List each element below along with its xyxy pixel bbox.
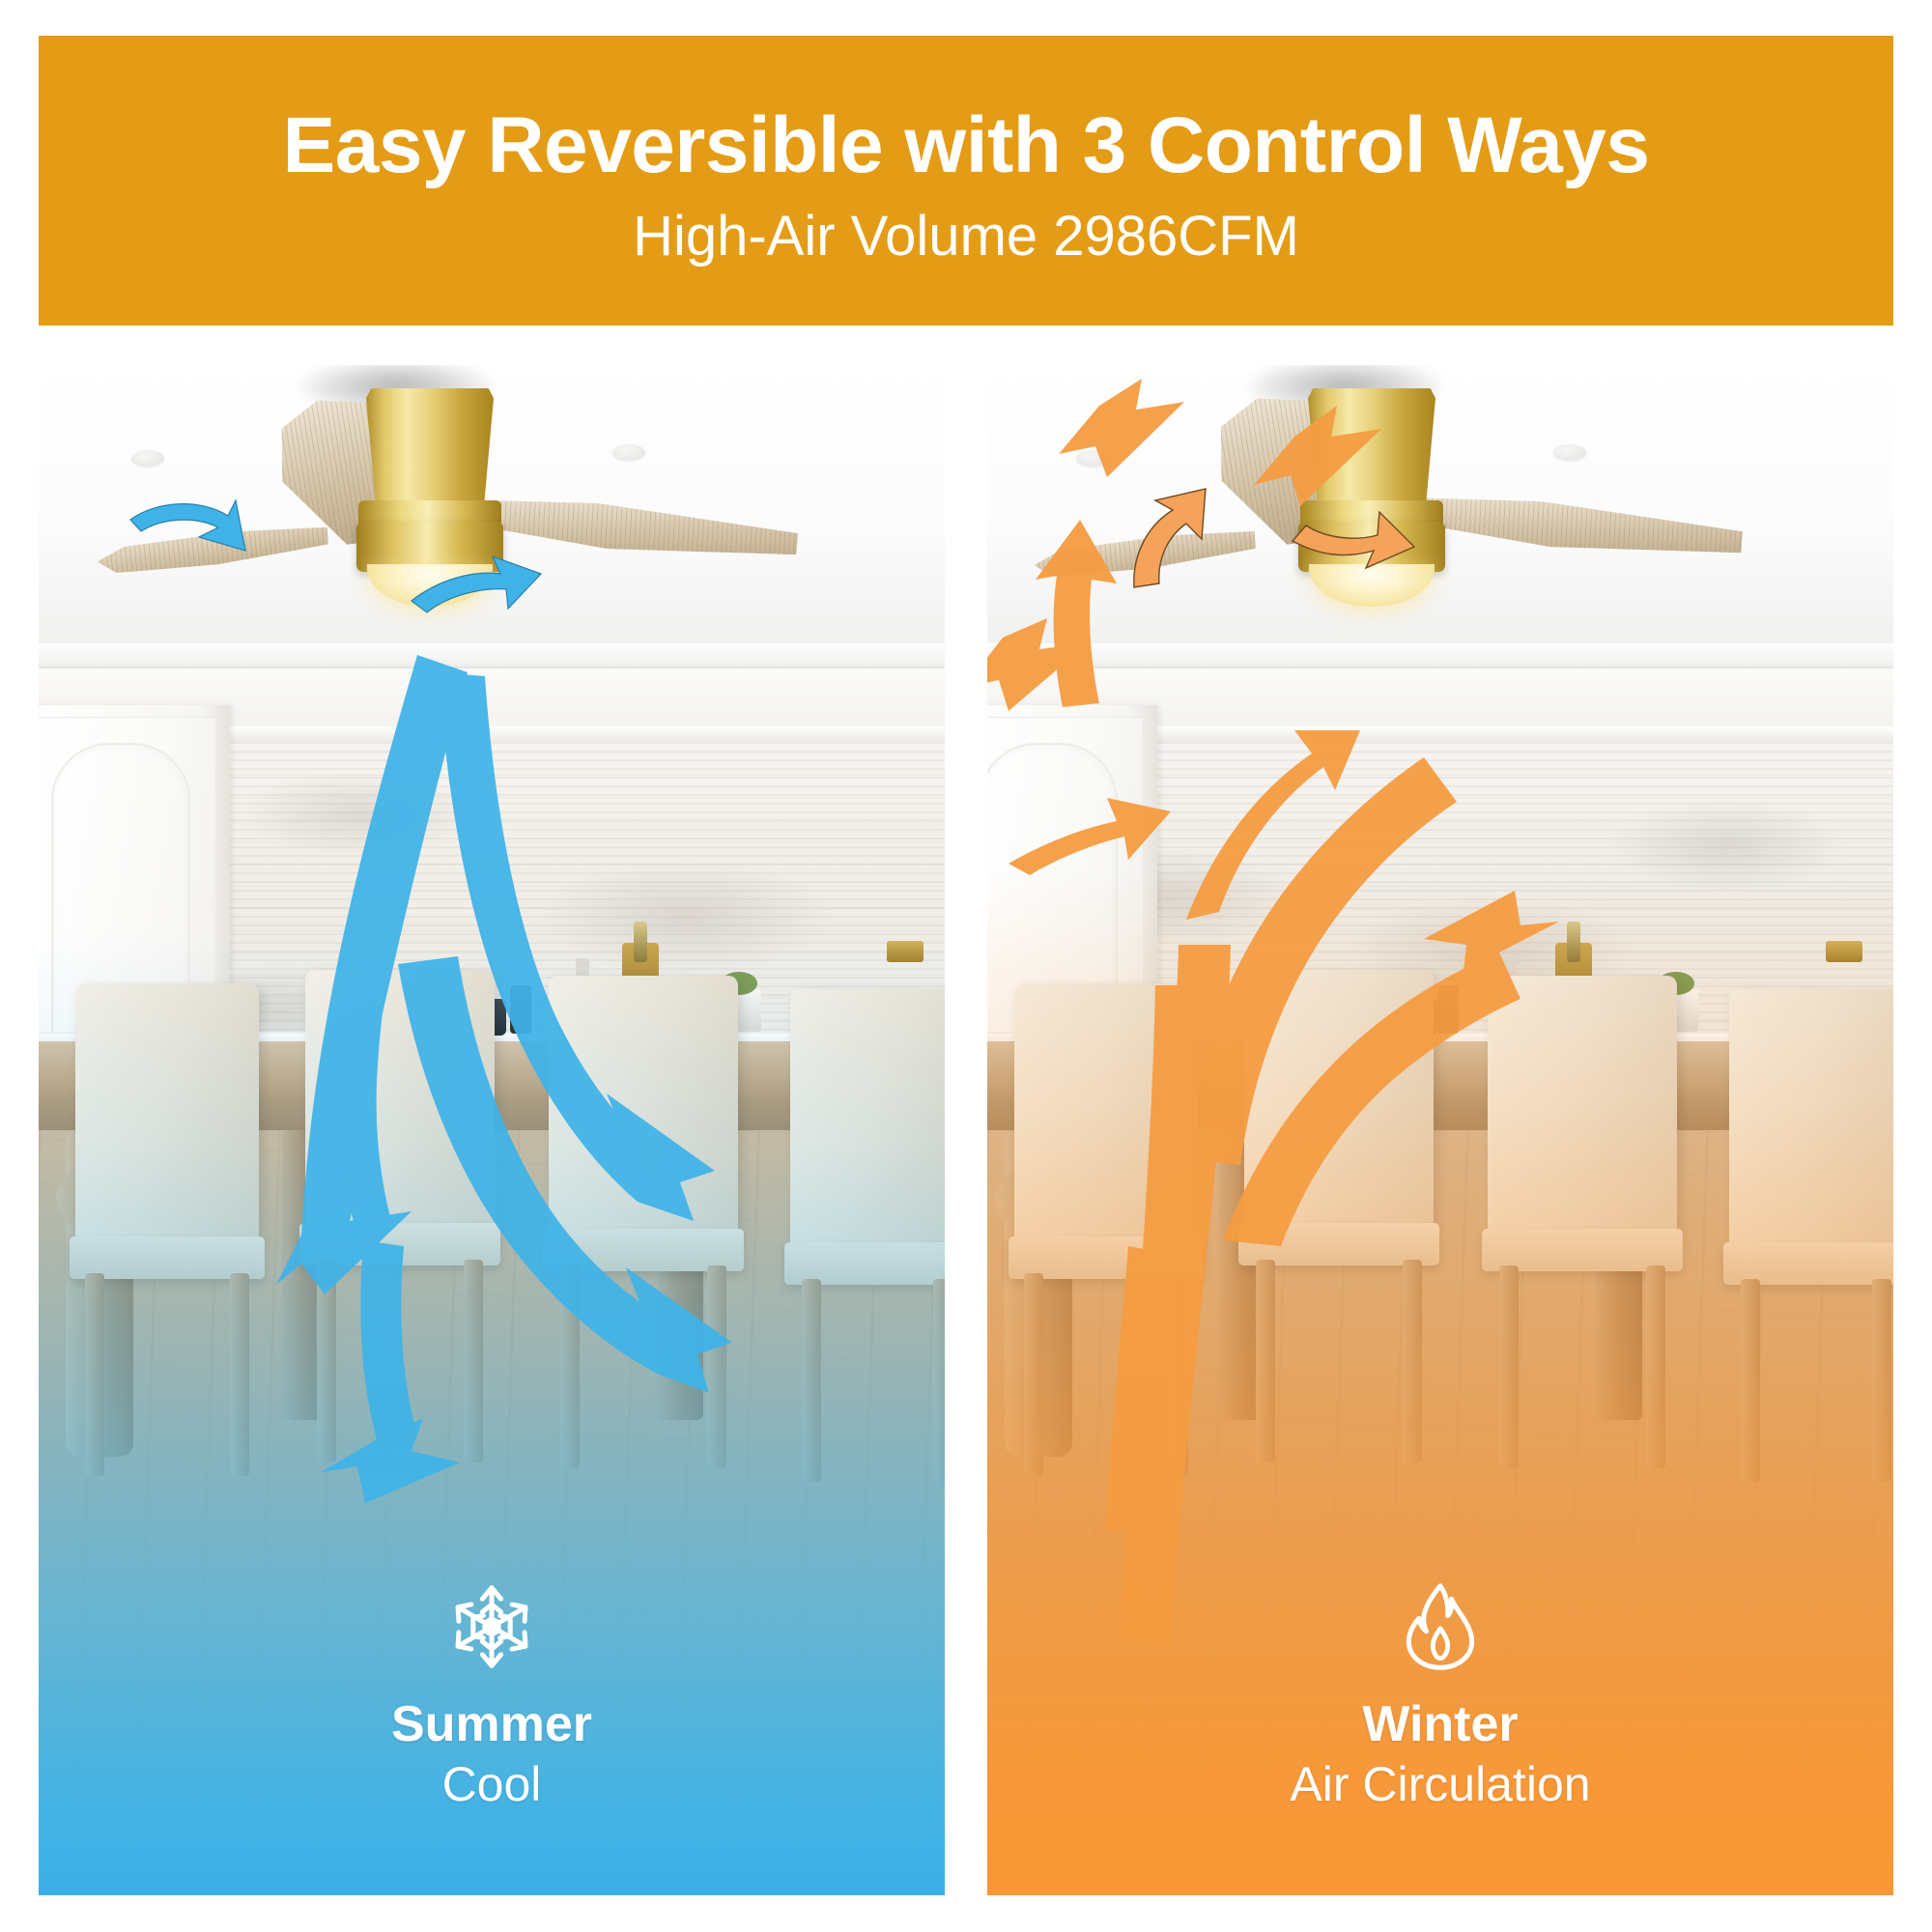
banner-title: Easy Reversible with 3 Control Ways [283,106,1650,185]
fan-led-light [367,564,493,607]
dining-chair [549,976,738,1478]
winter-label-sub: Air Circulation [1290,1758,1590,1811]
chair-leg [85,1273,104,1476]
chair-leg [1646,1265,1665,1468]
crown-molding [987,643,1893,668]
fan-blade-right [461,492,800,565]
ceiling-fan-winter [987,365,1893,655]
dining-chair [1488,976,1677,1478]
chair-leg [230,1273,249,1476]
chair-leg [1872,1279,1891,1482]
banner-subtitle: High-Air Volume 2986CFM [633,209,1299,265]
infographic-root: Easy Reversible with 3 Control Ways High… [0,0,1932,1932]
wall-smudge [541,858,831,974]
dining-chair [790,989,945,1472]
dining-chair [1014,983,1198,1476]
summer-label-main: Summer [391,1698,592,1750]
decor-champagne [634,922,647,962]
decor-box [1437,985,1459,1034]
summer-label-block: Summer Cool [39,1580,945,1811]
dining-chair [1244,970,1434,1476]
decor-box [510,985,531,1034]
fan-blade-left [1033,529,1257,578]
chair-back [75,983,259,1242]
chair-back [305,970,495,1229]
dining-chair [1729,989,1893,1472]
crown-molding [39,643,945,668]
winter-panel: Winter Air Circulation [987,365,1893,1895]
fan-led-light [1309,564,1435,607]
dining-chair [75,983,259,1476]
chair-leg [1499,1265,1519,1468]
chair-back [1244,970,1434,1229]
decor-gold-tray [1826,941,1862,962]
fan-blade-right [1402,490,1745,564]
chair-leg [1256,1260,1275,1463]
summer-panel: Summer Cool [39,365,945,1895]
chair-leg [1403,1260,1422,1463]
chair-back [1488,976,1677,1235]
chair-back [1014,983,1198,1242]
fan-blade-left [96,526,329,575]
chair-leg [560,1265,580,1468]
decor-champagne [1567,922,1580,962]
wall-smudge [1605,800,1847,893]
fan-motor-housing [1308,388,1435,512]
chair-leg [707,1265,726,1468]
chair-leg [464,1260,483,1463]
chair-leg [317,1260,336,1463]
dining-chair [305,970,495,1476]
chair-back [549,976,738,1235]
flame-icon [1394,1580,1487,1673]
wall-smudge [241,771,473,858]
decor-gold-tray [887,941,923,962]
chair-leg [1741,1279,1760,1482]
summer-label-sub: Cool [442,1758,542,1811]
chair-leg [933,1279,945,1482]
chair-leg [1169,1273,1188,1476]
chair-leg [802,1279,821,1482]
ceiling-fan-summer [39,365,945,655]
header-banner: Easy Reversible with 3 Control Ways High… [39,36,1893,326]
chair-back [790,989,945,1248]
chair-leg [1024,1273,1043,1476]
winter-label-main: Winter [1362,1698,1518,1750]
chair-back [1729,989,1893,1248]
snowflake-icon [445,1580,538,1673]
fan-motor-housing [366,388,494,512]
winter-label-block: Winter Air Circulation [987,1580,1893,1811]
